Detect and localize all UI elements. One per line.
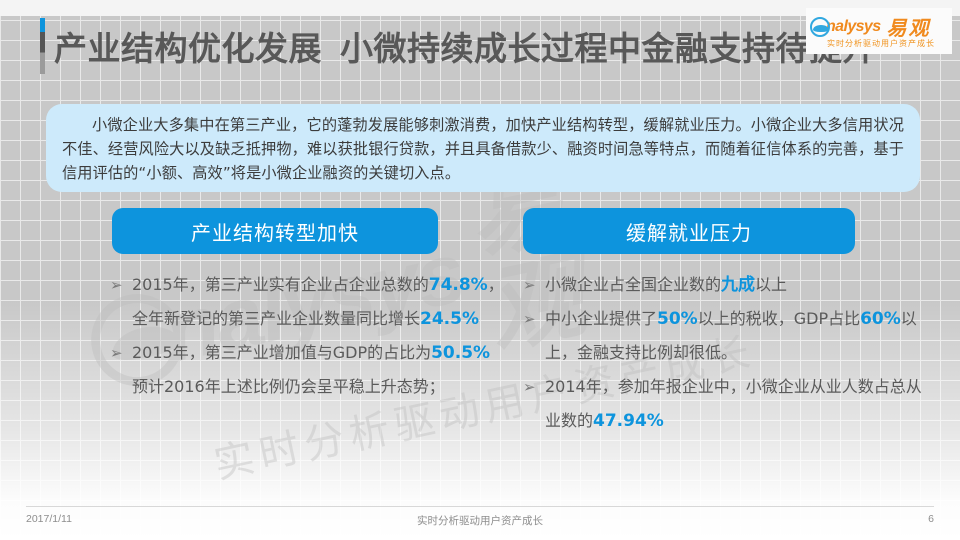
footer-page-number: 6 xyxy=(928,513,934,525)
column-header-right: 缓解就业压力 xyxy=(523,208,855,254)
column-body-left: ➢2015年，第三产业实有企业占企业总数的74.8%，全年新登记的第三产业企业数… xyxy=(110,268,510,404)
page-title: 产业结构优化发展 小微持续成长过程中金融支持待提升 xyxy=(54,18,876,74)
footer-divider xyxy=(26,506,934,507)
brand-english: nalysys xyxy=(826,18,881,36)
column-header-left: 产业结构转型加快 xyxy=(112,208,438,254)
bullet-text: 中小企业提供了 xyxy=(545,309,657,328)
footer: 2017/1/11 实时分析驱动用户资产成长 6 xyxy=(0,508,960,536)
bullet-item: ➢中小企业提供了50%以上的税收，GDP占比60%以上，金融支持比例却很低。 xyxy=(523,302,923,370)
bullet-arrow-icon: ➢ xyxy=(523,370,536,404)
bullet-item: ➢2015年，第三产业增加值与GDP的占比为50.5% xyxy=(110,336,510,370)
highlight-value: 50% xyxy=(657,309,698,329)
bullet-arrow-icon: ➢ xyxy=(523,302,536,336)
brand-tagline: 实时分析驱动用户资产成长 xyxy=(810,38,952,49)
slide-canvas: nalysys 易观 实时分析驱动用户资产成长 产业结构优化发展 小微持续成长过… xyxy=(0,0,960,540)
brand-logo-row: nalysys 易观 xyxy=(810,14,952,40)
highlight-value: 24.5% xyxy=(420,309,479,329)
bullet-item: ➢2015年，第三产业实有企业占企业总数的74.8%，全年新登记的第三产业企业数… xyxy=(110,268,510,336)
bullet-arrow-icon: ➢ xyxy=(110,336,123,370)
column-body-right: ➢小微企业占全国企业数的九成以上➢中小企业提供了50%以上的税收，GDP占比60… xyxy=(523,268,923,438)
bullet-text: 以上 xyxy=(755,275,787,294)
bullet-text: 2015年，第三产业实有企业占企业总数的 xyxy=(132,275,429,294)
bullet-arrow-icon: ➢ xyxy=(523,268,536,302)
highlight-value: 九成 xyxy=(721,275,755,295)
intro-panel: 小微企业大多集中在第三产业，它的蓬勃发展能够刺激消费，加快产业结构转型，缓解就业… xyxy=(46,104,920,192)
highlight-value: 50.5% xyxy=(431,343,490,363)
bullet-arrow-icon: ➢ xyxy=(110,268,123,302)
footer-tagline: 实时分析驱动用户资产成长 xyxy=(0,513,960,528)
bullet-item: ➢小微企业占全国企业数的九成以上 xyxy=(523,268,923,302)
bullet-continuation: 预计2016年上述比例仍会呈平稳上升态势； xyxy=(110,370,510,404)
bullet-text: 以上的税收，GDP占比 xyxy=(698,309,860,328)
brand-logo: nalysys 易观 实时分析驱动用户资产成长 xyxy=(806,8,952,54)
highlight-value: 47.94% xyxy=(593,411,664,431)
intro-text: 小微企业大多集中在第三产业，它的蓬勃发展能够刺激消费，加快产业结构转型，缓解就业… xyxy=(62,113,904,185)
bullet-item: ➢2014年，参加年报企业中，小微企业从业人数占总从业数的47.94% xyxy=(523,370,923,438)
analysys-circle-logo-icon xyxy=(810,17,830,37)
page-title-part2: 小微持续成长过程中金融支持待提升 xyxy=(340,22,876,70)
title-accent-bar xyxy=(40,18,45,74)
bullet-text: 小微企业占全国企业数的 xyxy=(545,275,721,294)
bullet-text: 2015年，第三产业增加值与GDP的占比为 xyxy=(132,343,431,362)
highlight-value: 74.8% xyxy=(429,275,488,295)
highlight-value: 60% xyxy=(860,309,901,329)
page-title-part1: 产业结构优化发展 xyxy=(54,22,322,70)
